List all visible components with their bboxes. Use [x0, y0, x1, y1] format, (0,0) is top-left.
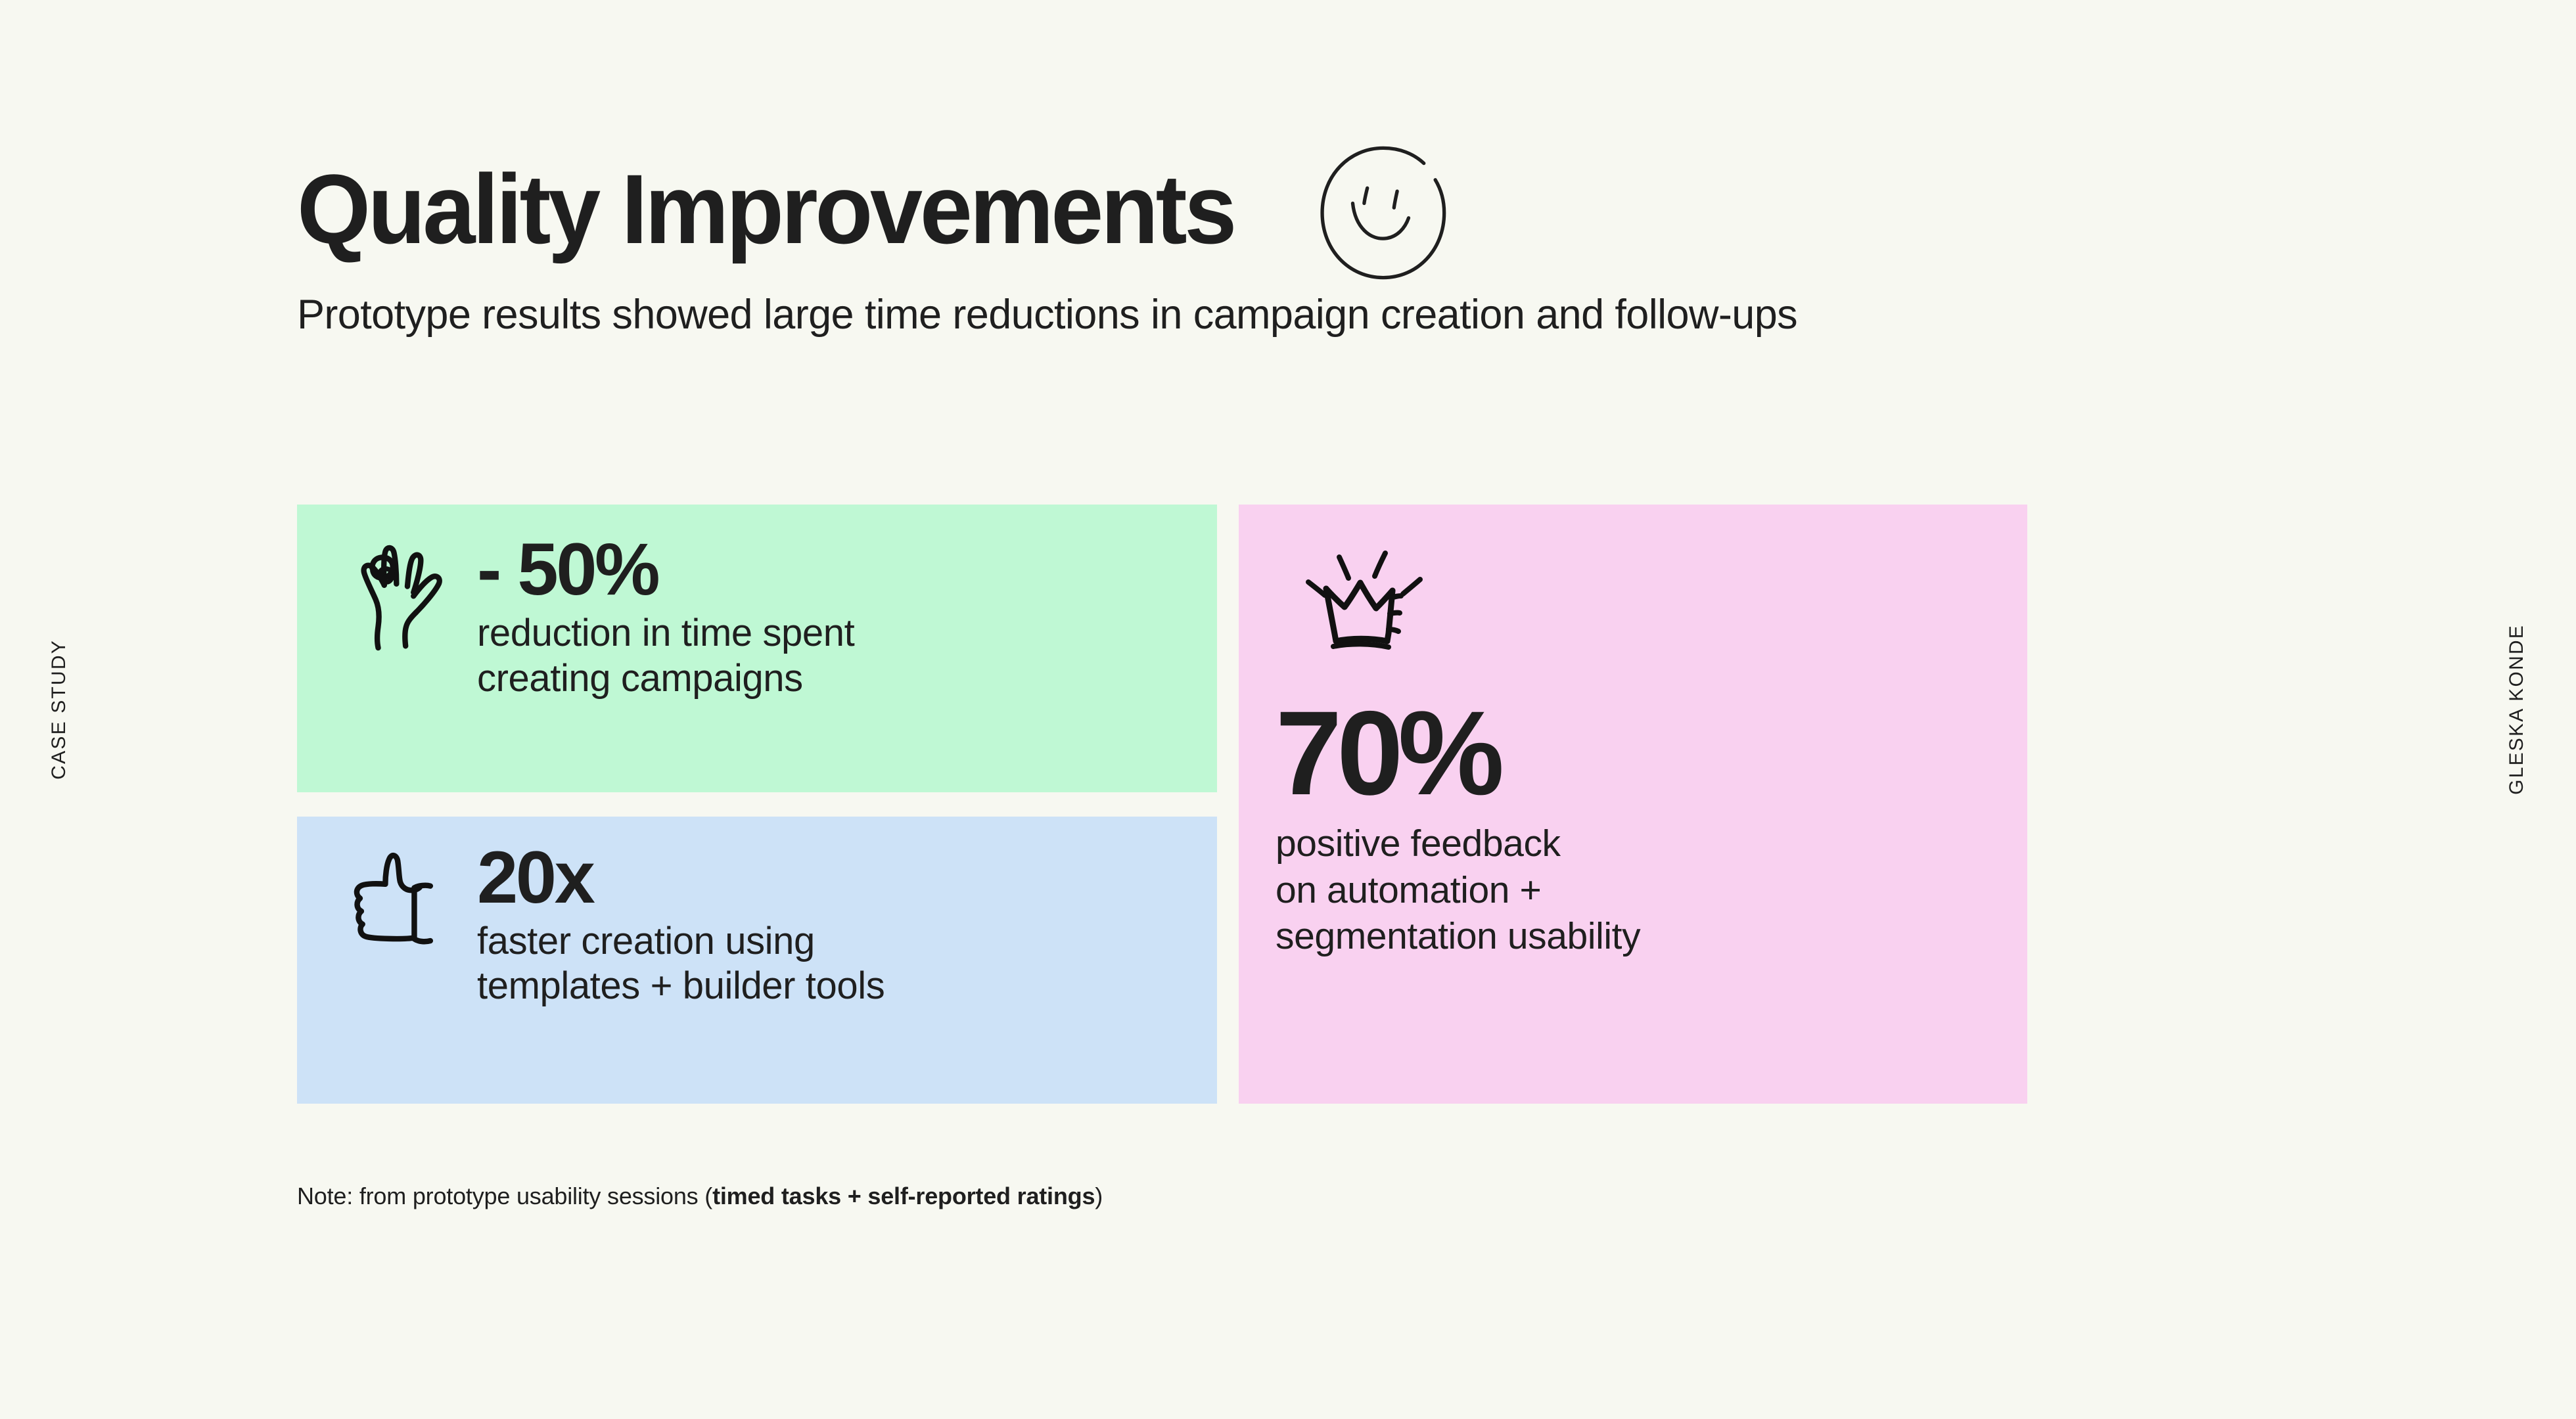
- card-positive-feedback: 70% positive feedback on automation + se…: [1239, 505, 2027, 1104]
- smiley-face-icon: [1304, 137, 1457, 289]
- footnote-prefix: Note: from prototype usability sessions …: [297, 1182, 712, 1209]
- headline-row: Quality Improvements: [297, 129, 1457, 289]
- ok-hand-icon: [344, 541, 454, 657]
- crown-icon-wrap: [1295, 541, 1512, 692]
- stat-description-line-1: faster creation using: [477, 919, 1178, 964]
- card-faster-creation-body: 20x faster creation using templates + bu…: [461, 840, 1178, 1009]
- brand-label: GLESKA KONDE: [2506, 624, 2528, 795]
- card-time-reduction: - 50% reduction in time spent creating c…: [297, 505, 1217, 792]
- thumbs-up-icon: [350, 849, 448, 955]
- stat-description-line-2: on automation +: [1276, 867, 1990, 914]
- slide-content: Quality Improvements Prototype results s…: [297, 0, 2045, 1419]
- page-title: Quality Improvements: [297, 160, 1234, 258]
- stat-description: positive feedback on automation + segmen…: [1276, 821, 1990, 960]
- right-side-rail: GLESKA KONDE: [2477, 0, 2556, 1419]
- stat-description-line-2: templates + builder tools: [477, 964, 1178, 1008]
- card-faster-creation: 20x faster creation using templates + bu…: [297, 817, 1217, 1104]
- footnote: Note: from prototype usability sessions …: [297, 1182, 1103, 1210]
- left-card-column: - 50% reduction in time spent creating c…: [297, 505, 1217, 1104]
- stat-description-line-1: positive feedback: [1276, 821, 1990, 867]
- stat-value: 20x: [477, 840, 1178, 915]
- ok-hand-icon-wrap: [336, 532, 461, 657]
- stat-description-line-3: segmentation usability: [1276, 913, 1990, 960]
- crown-icon: [1295, 541, 1492, 681]
- stat-description-line-2: creating campaigns: [477, 656, 1178, 701]
- stats-card-grid: - 50% reduction in time spent creating c…: [297, 505, 2006, 1104]
- stat-description: faster creation using templates + builde…: [477, 919, 1178, 1009]
- stat-description-line-1: reduction in time spent: [477, 611, 1178, 656]
- card-time-reduction-body: - 50% reduction in time spent creating c…: [461, 532, 1178, 701]
- stat-description: reduction in time spent creating campaig…: [477, 611, 1178, 701]
- page-subtitle: Prototype results showed large time redu…: [297, 288, 1979, 343]
- stat-value: - 50%: [477, 532, 1178, 607]
- stat-value: 70%: [1276, 696, 1990, 810]
- footnote-suffix: ): [1095, 1182, 1103, 1209]
- case-study-label: CASE STUDY: [48, 639, 70, 780]
- footnote-emphasis: timed tasks + self-reported ratings: [712, 1182, 1095, 1209]
- thumbs-up-icon-wrap: [336, 840, 461, 955]
- left-side-rail: CASE STUDY: [20, 0, 99, 1419]
